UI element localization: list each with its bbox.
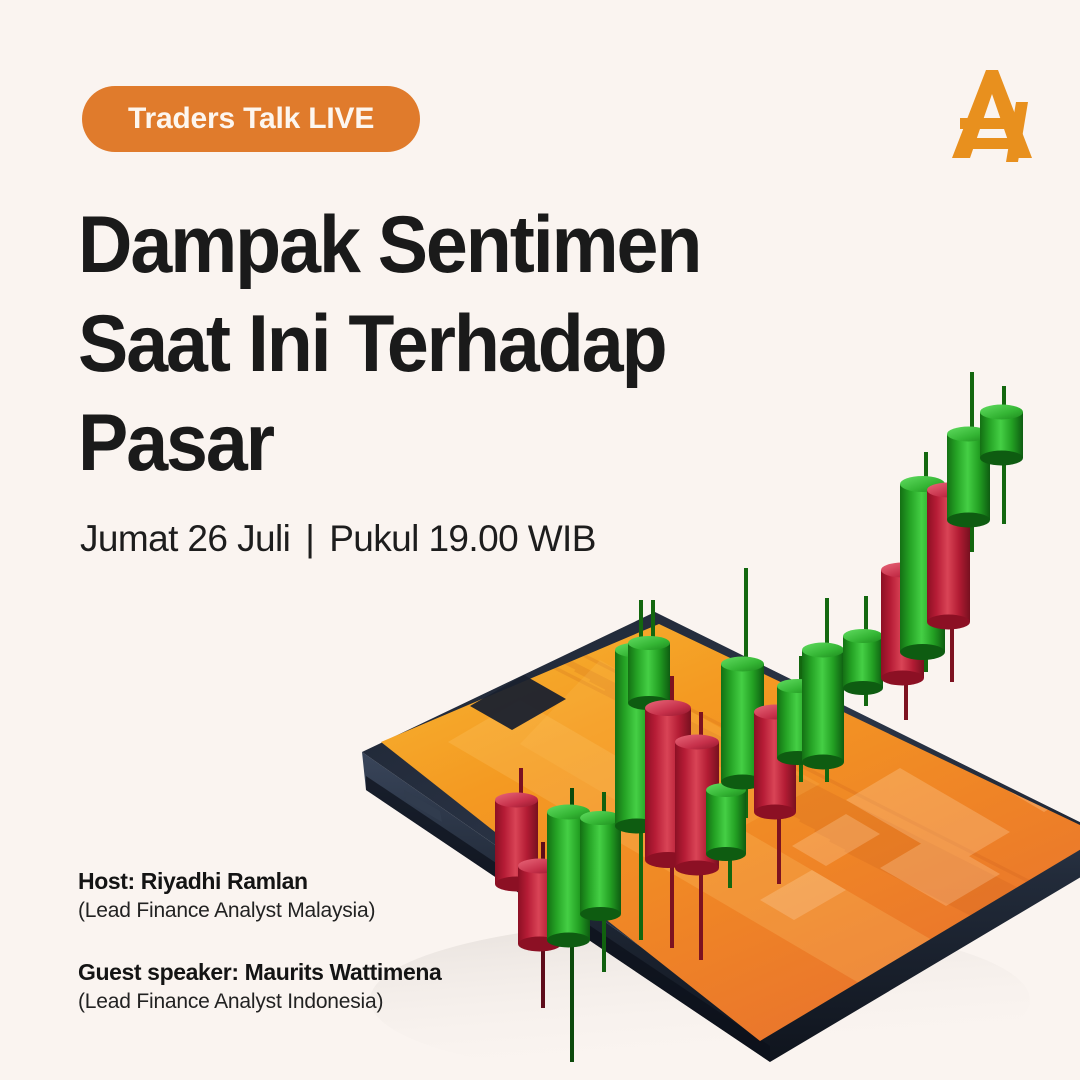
candle-bullish [843,629,883,695]
logo-a-currency-icon [932,58,1044,170]
headline-line-2: Saat Ini Terhadap [78,295,803,394]
credit-host: Host: Riyadhi Ramlan (Lead Finance Analy… [78,868,441,923]
schedule-date: Jumat 26 Juli [80,518,290,560]
credit-host-role: (Lead Finance Analyst Malaysia) [78,899,441,923]
credit-guest: Guest speaker: Maurits Wattimena (Lead F… [78,959,441,1014]
credit-guest-role: (Lead Finance Analyst Indonesia) [78,990,441,1014]
credits-block: Host: Riyadhi Ramlan (Lead Finance Analy… [78,868,441,1014]
badge-label: Traders Talk LIVE [128,102,374,136]
credit-guest-name: Guest speaker: Maurits Wattimena [78,959,441,986]
promo-poster: Traders Talk LIVE Dampak Sentimen Saat I… [0,0,1080,1080]
page-title: Dampak Sentimen Saat Ini Terhadap Pasar [78,196,803,492]
traders-talk-live-badge: Traders Talk LIVE [82,86,420,152]
candle-bullish [802,643,844,770]
schedule-separator: | [305,518,314,560]
headline-line-3: Pasar [78,394,803,493]
candle-bullish [580,811,621,921]
candle-bullish [628,636,670,710]
headline-line-1: Dampak Sentimen [78,196,803,295]
candle-bullish [706,783,746,861]
credit-host-name: Host: Riyadhi Ramlan [78,868,441,895]
candle-bullish [980,405,1023,466]
schedule-line: Jumat 26 Juli | Pukul 19.00 WIB [80,518,596,560]
schedule-time: Pukul 19.00 WIB [329,518,596,560]
